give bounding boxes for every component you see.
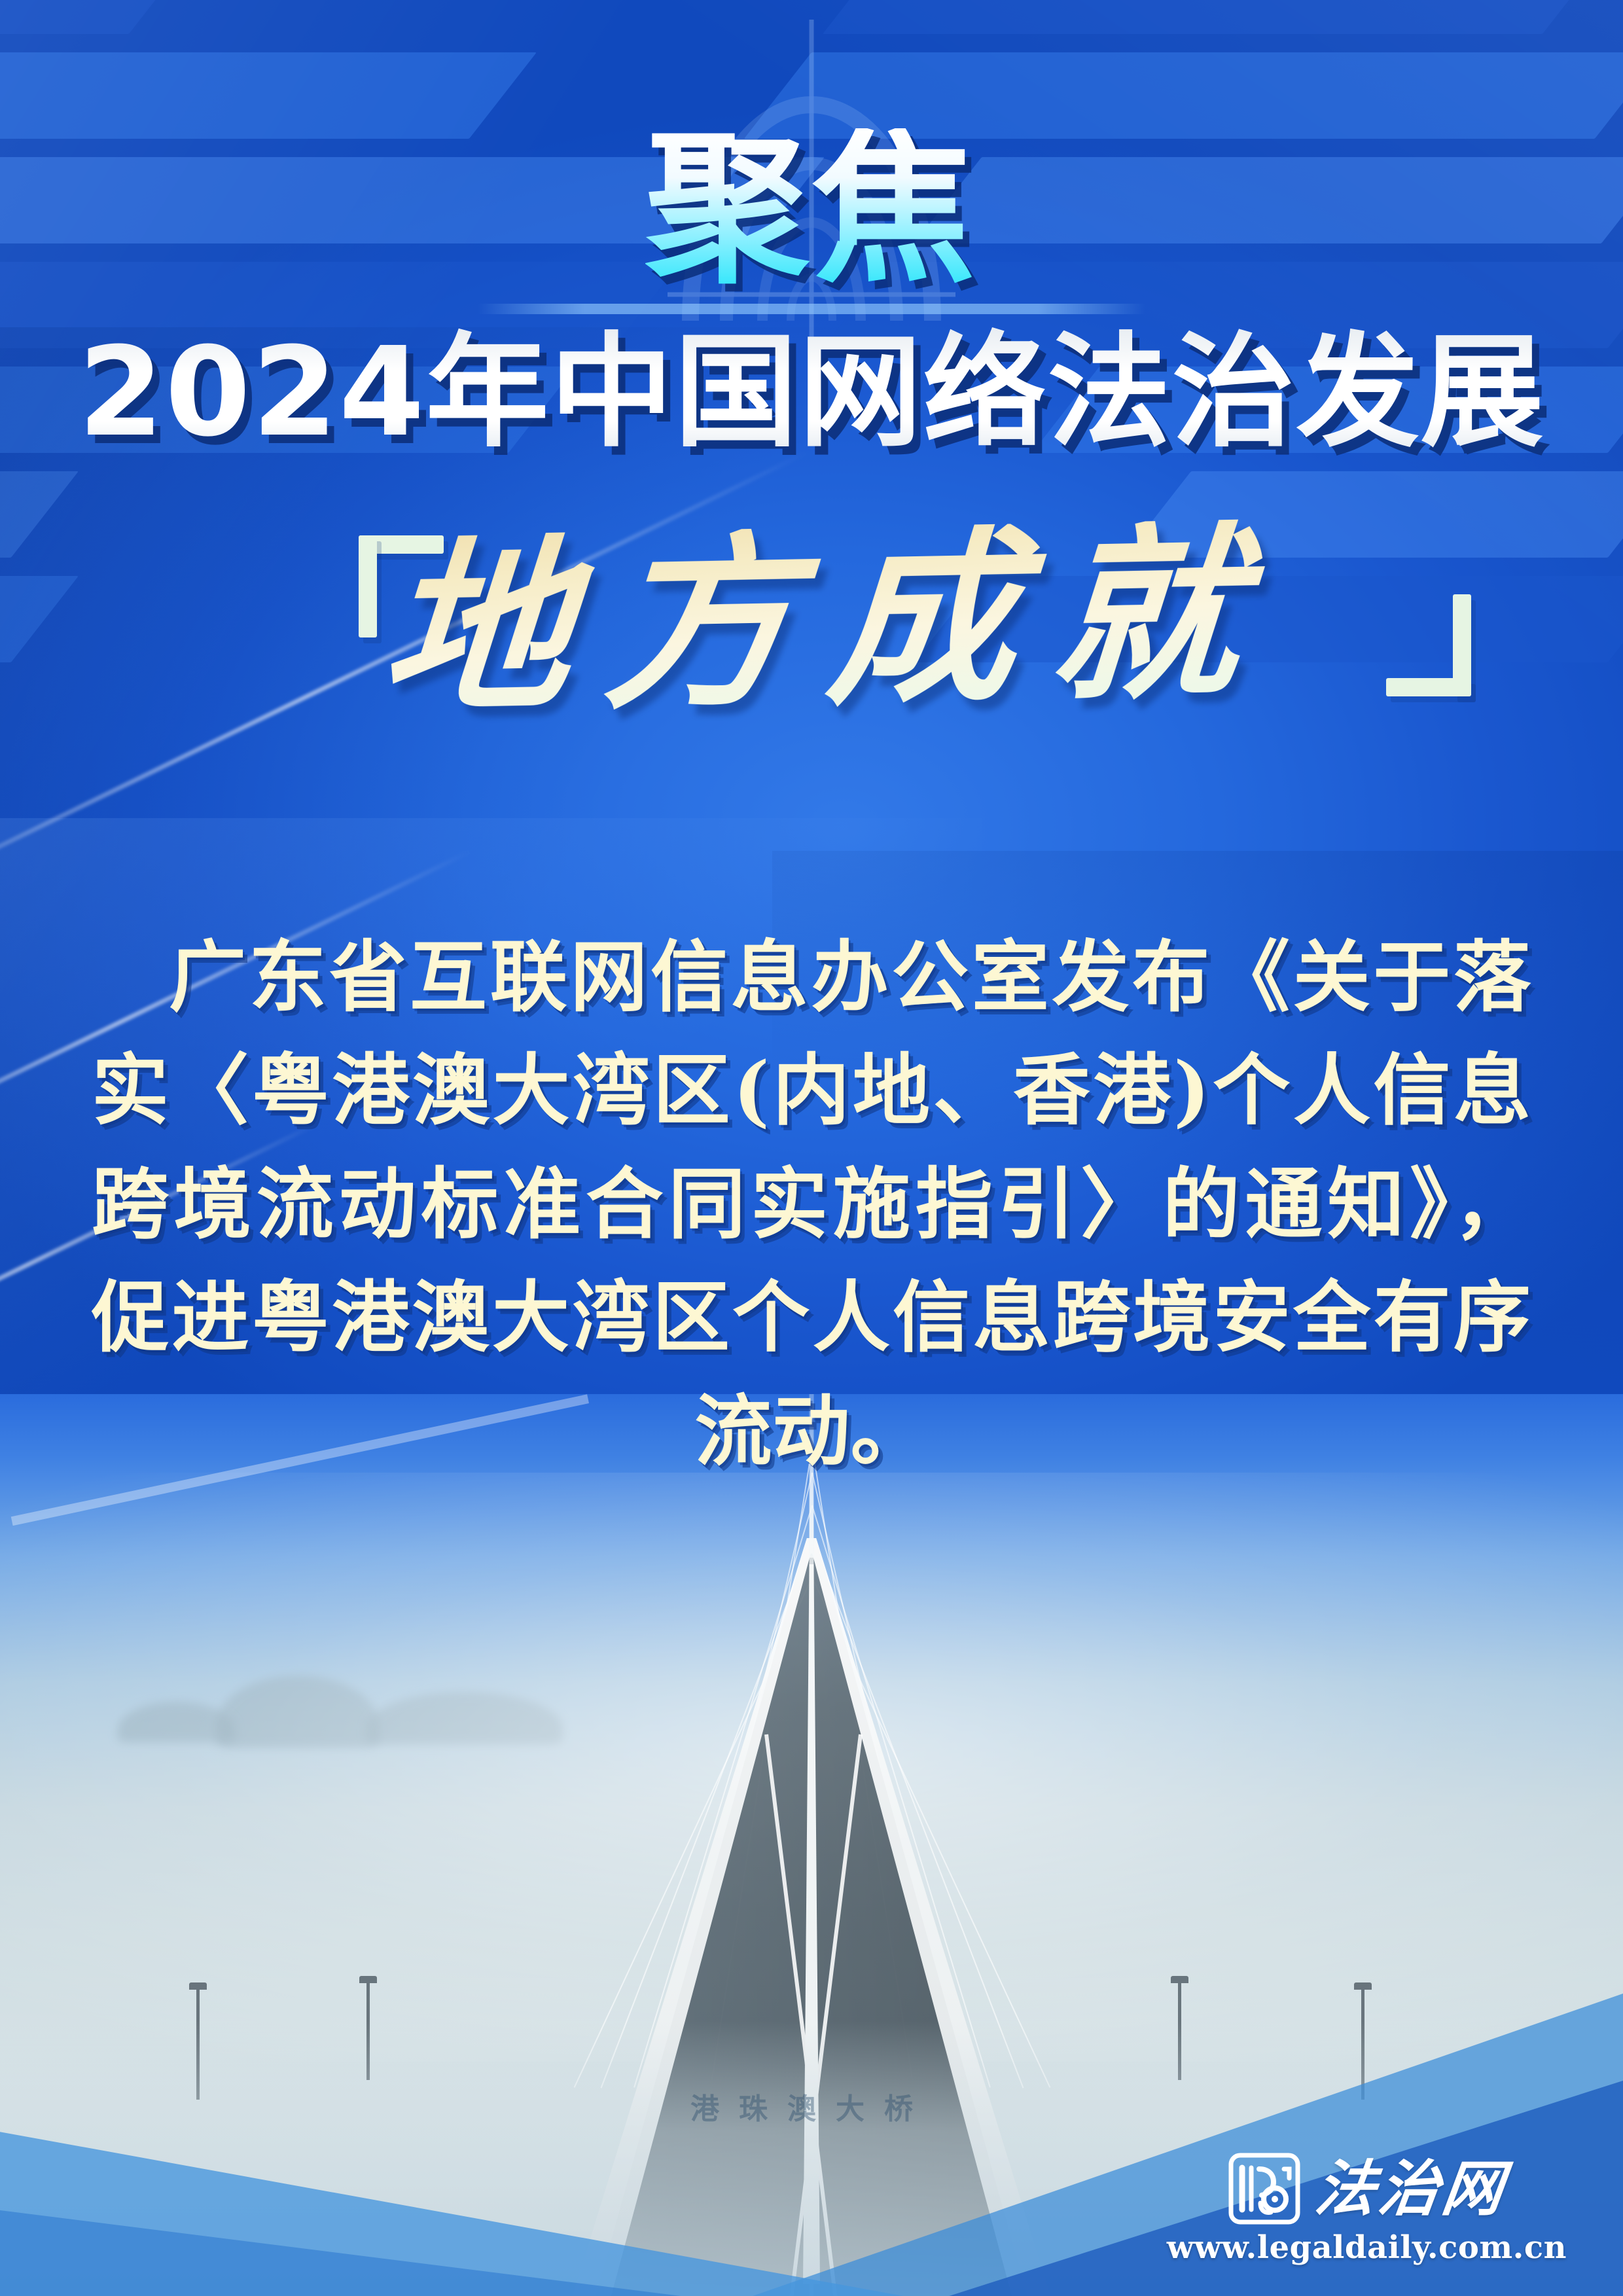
logo-brand-name: 法治网 — [1311, 2159, 1509, 2219]
logo-row: 法治网 — [1228, 2152, 1506, 2225]
bridge-name-caption: 港珠澳大桥 — [690, 2085, 933, 2127]
poster-main-title: 2024年中国网络法治发展 — [0, 327, 1623, 457]
focus-badge-rule — [478, 304, 1145, 314]
calligraphy-title: 地方成就 — [0, 512, 1623, 730]
focus-badge: 聚焦 — [0, 128, 1623, 292]
poster-root: 聚焦 2024年中国网络法治发展 地方成就 广东省互联网信息办公室发布《关于落实… — [0, 0, 1623, 2296]
logo-website-url[interactable]: www.legaldaily.com.cn — [1167, 2229, 1567, 2266]
focus-badge-label: 聚焦 — [645, 128, 978, 292]
legal-daily-logo[interactable]: 法治网 www.legaldaily.com.cn — [1167, 2152, 1567, 2266]
seal-stamp-icon — [1228, 2152, 1301, 2225]
calligraphy-section: 地方成就 — [0, 497, 1623, 903]
poster-body-text: 广东省互联网信息办公室发布《关于落实〈粤港澳大湾区(内地、香港)个人信息跨境流动… — [92, 920, 1531, 1488]
